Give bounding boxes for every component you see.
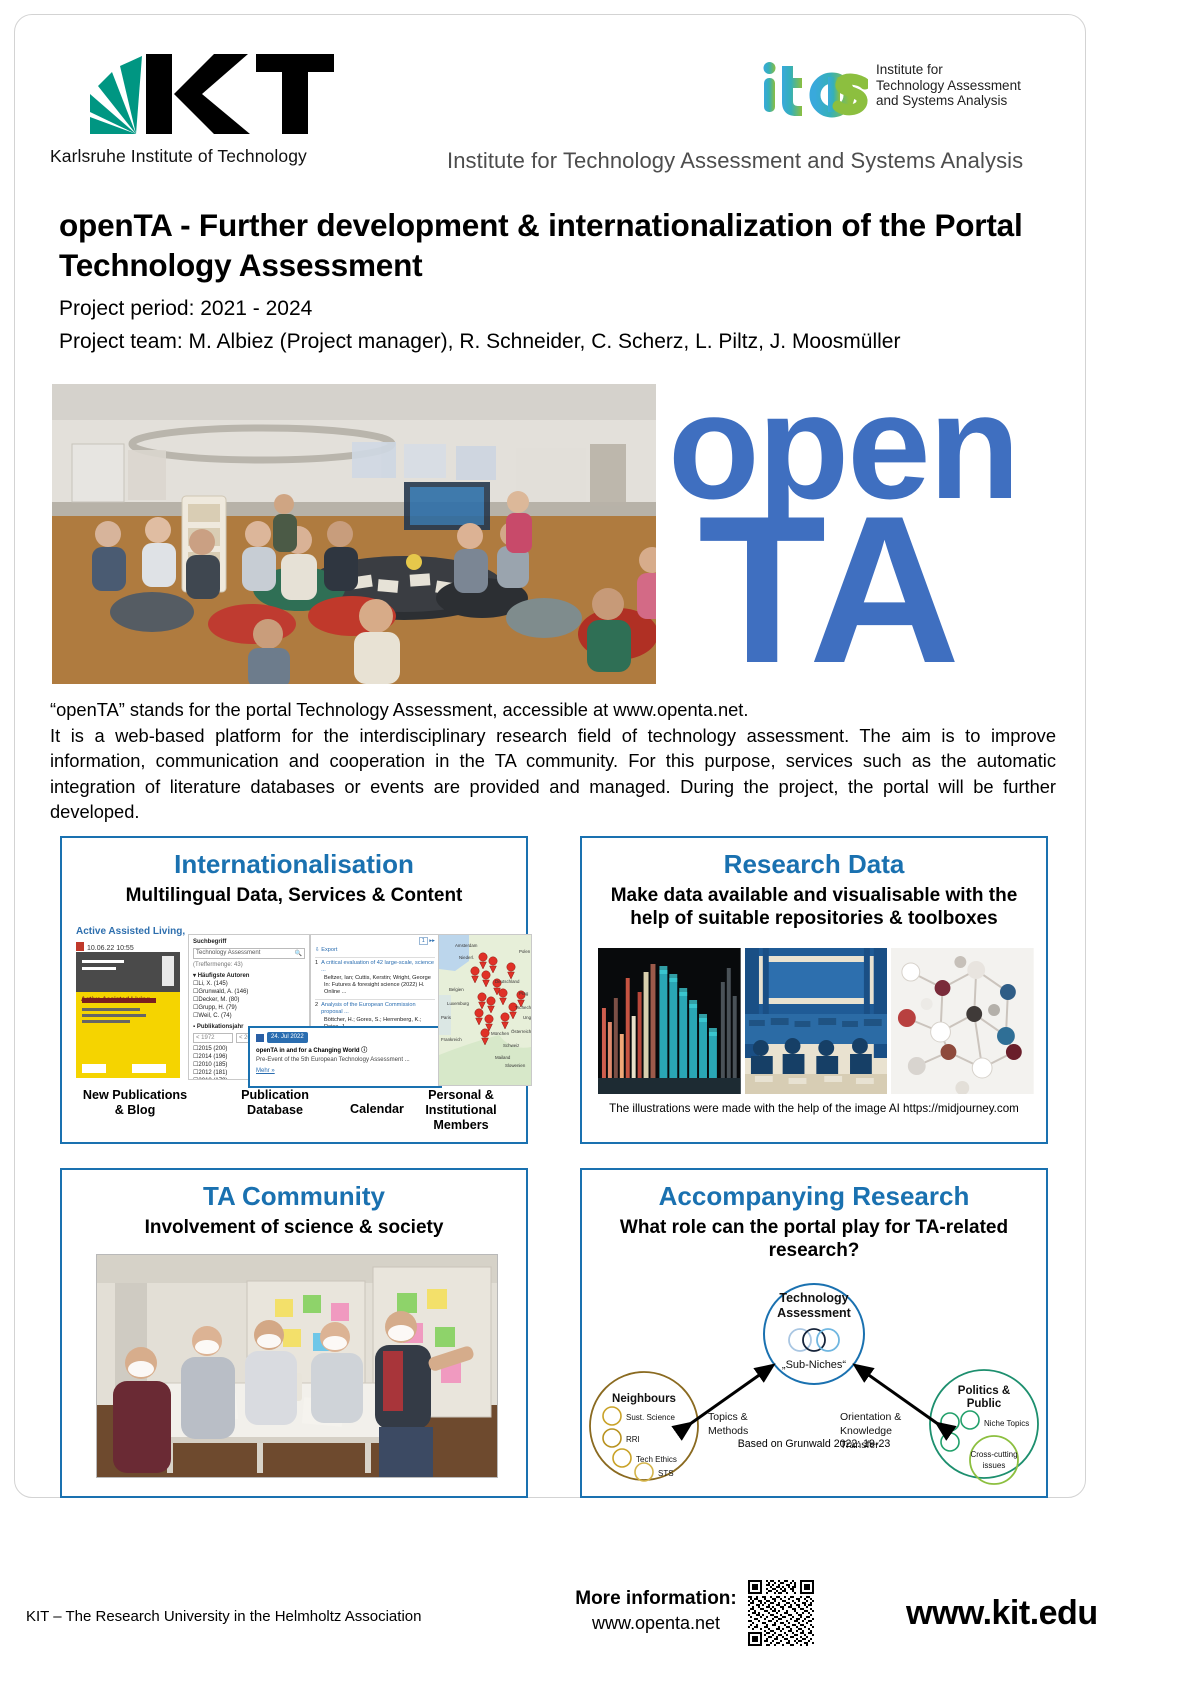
svg-text:Schweiz: Schweiz xyxy=(503,1043,519,1048)
panel-ta-community: TA Community Involvement of science & so… xyxy=(60,1168,528,1498)
workshop-photo-graphic xyxy=(52,384,656,684)
panel-research-data-title: Research Data xyxy=(582,849,1046,880)
footer-openta-url[interactable]: www.openta.net xyxy=(556,1613,756,1634)
db-author-item[interactable]: ☐Li, X. (145) xyxy=(193,980,305,988)
kit-logo: Karlsruhe Institute of Technology xyxy=(50,42,350,172)
ai-image-reading-room xyxy=(745,948,888,1094)
internationalisation-collage: Active Assisted Living, 10.06.22 10:55 xyxy=(70,926,518,1084)
book-cover-thumbnail: Active Assisted Living xyxy=(76,952,180,1078)
calendar-icon xyxy=(76,942,84,951)
caption-personal-institutional-members: Personal & Institutional Members xyxy=(396,1088,526,1133)
db-hit-count: (Treffermenge: 43) xyxy=(193,961,305,969)
result-title[interactable]: Analysis of the European Commission prop… xyxy=(321,1002,435,1017)
result-index: 1 xyxy=(315,960,318,975)
db-year-from-input[interactable]: < 1972 xyxy=(193,1033,233,1043)
diagram-neighbour-item-1: Sust. Science xyxy=(626,1413,675,1422)
footer-helmholtz-line: KIT – The Research University in the Hel… xyxy=(26,1608,421,1625)
diagram-center-line2: Assessment xyxy=(777,1306,851,1320)
db-search-label: Suchbegriff xyxy=(193,938,305,946)
calendar-date-badge: 24. Jul 2022 xyxy=(267,1032,308,1043)
panel-internationalisation-title: Internationalisation xyxy=(62,849,526,880)
diagram-niche-topics-label: Niche Topics xyxy=(984,1419,1029,1428)
calendar-event-title[interactable]: openTA in and for a Changing World ⓘ xyxy=(256,1047,434,1056)
svg-text:Prag: Prag xyxy=(519,991,529,996)
export-button[interactable]: ⇩ Export xyxy=(315,947,435,954)
result-authors: Beltzer, Ian; Cuttis, Kerstin; Wright, G… xyxy=(315,975,435,982)
diagram-edge-left-line1: Topics & xyxy=(708,1411,748,1423)
community-workshop-photo-graphic xyxy=(97,1255,497,1477)
ta-research-diagram-graphic: Technology Assessment „Sub-Niches“ Neigh… xyxy=(582,1274,1046,1494)
svg-text:Ungarn: Ungarn xyxy=(523,1015,531,1020)
search-icon[interactable]: 🔍 xyxy=(295,950,302,958)
diagram-politics-label-2: Public xyxy=(967,1398,1002,1410)
result-title[interactable]: A critical evaluation of 42 large-scale,… xyxy=(321,960,435,975)
footer-more-info-label: More information: xyxy=(556,1588,756,1610)
intro-text: “openTA” stands for the portal Technolog… xyxy=(50,697,1056,825)
qr-code[interactable] xyxy=(748,1580,814,1646)
panel-accompanying-research-title: Accompanying Research xyxy=(582,1181,1046,1212)
ai-image-data-viz xyxy=(598,948,741,1094)
blog-date: 10.06.22 10:55 xyxy=(76,942,134,952)
calendar-event-sub: Pre-Event of the 5th European Technology… xyxy=(256,1056,434,1065)
svg-text:Frankreich: Frankreich xyxy=(441,1037,462,1042)
svg-text:Luxemburg: Luxemburg xyxy=(447,1001,470,1006)
diagram-cross-cutting-line1: Cross-cutting xyxy=(970,1450,1017,1459)
diagram-edge-right-line1: Orientation & xyxy=(840,1411,901,1423)
intro-line-1: “openTA” stands for the portal Technolog… xyxy=(50,697,1056,723)
pager-next[interactable]: ▸▸ xyxy=(429,938,435,944)
diagram-credit: Based on Grunwald 2022: 19-23 xyxy=(582,1438,1046,1450)
panel-ta-community-subtitle: Involvement of science & society xyxy=(62,1216,526,1239)
project-period: Project period: 2021 - 2024 xyxy=(59,297,1039,321)
db-author-item[interactable]: ☐Decker, M. (80) xyxy=(193,996,305,1004)
diagram-politics-label-1: Politics & xyxy=(958,1385,1010,1397)
result-index: 2 xyxy=(315,1002,318,1017)
diagram-edge-right-line2: Knowledge xyxy=(840,1425,892,1437)
diagram-sub-niches-label: „Sub-Niches“ xyxy=(782,1359,847,1371)
db-author-item[interactable]: ☐Weil, C. (74) xyxy=(193,1012,305,1020)
footer-kit-edu[interactable]: www.kit.edu xyxy=(906,1594,1098,1633)
project-team: Project team: M. Albiez (Project manager… xyxy=(59,330,1039,354)
research-data-note: The illustrations were made with the hel… xyxy=(594,1102,1034,1115)
institute-subtitle: Institute for Technology Assessment and … xyxy=(447,148,1023,174)
svg-text:Tschech.: Tschech. xyxy=(515,1005,531,1010)
bullet-icon: ▪ xyxy=(193,1024,195,1030)
blog-heading: Active Assisted Living, xyxy=(76,926,185,937)
intro-body: It is a web-based platform for the inter… xyxy=(50,723,1056,825)
ai-image-data-viz-graphic xyxy=(598,948,741,1094)
svg-text:München: München xyxy=(491,1031,510,1036)
itas-text-line-3: and Systems Analysis xyxy=(876,93,1021,109)
itas-logo: Institute for Technology Assessment and … xyxy=(758,58,1058,128)
panel-ta-community-title: TA Community xyxy=(62,1181,526,1212)
svg-text:Niederl.: Niederl. xyxy=(459,955,474,960)
calendar-more-link[interactable]: Mehr » xyxy=(256,1067,434,1076)
page-title: openTA - Further development & internati… xyxy=(59,205,1029,285)
openta-logo: open TA xyxy=(672,380,1060,688)
ai-image-reading-room-graphic xyxy=(745,948,888,1094)
db-author-list: ☐Li, X. (145) ☐Grunwald, A. (146) ☐Decke… xyxy=(193,980,305,1020)
diagram-edge-left-line2: Methods xyxy=(708,1425,748,1437)
members-map-screenshot: Amsterdam Niederl. Deutschland Belgien L… xyxy=(438,934,532,1086)
caption-publication-database: Publication Database xyxy=(220,1088,330,1118)
calendar-screenshot: 24. Jul 2022 openTA in and for a Changin… xyxy=(248,1026,442,1088)
footer-more-information: More information: www.openta.net xyxy=(556,1588,756,1634)
kit-logo-graphic xyxy=(50,42,350,142)
svg-text:Deutschland: Deutschland xyxy=(495,979,520,984)
itas-logo-graphic xyxy=(758,58,868,120)
svg-text:Slowenien: Slowenien xyxy=(505,1063,526,1068)
poster-canvas: Karlsruhe Institute of Technology Insti xyxy=(0,0,1200,1696)
research-data-images xyxy=(598,948,1034,1094)
diagram-neighbour-item-4: STS xyxy=(658,1469,674,1478)
ai-image-molecule-network xyxy=(891,948,1034,1094)
internationalisation-captions: New Publications & Blog Publication Data… xyxy=(62,1088,526,1136)
itas-text-line-2: Technology Assessment xyxy=(876,78,1021,94)
itas-text-line-1: Institute for xyxy=(876,62,1021,78)
svg-text:Polen: Polen xyxy=(519,949,531,954)
panel-research-data-subtitle: Make data available and visualisable wit… xyxy=(582,884,1046,930)
panel-research-data: Research Data Make data available and vi… xyxy=(580,836,1048,1144)
panel-internationalisation-subtitle: Multilingual Data, Services & Content xyxy=(62,884,526,907)
diagram-center-line1: Technology xyxy=(779,1291,848,1305)
db-search-input[interactable]: Technology Assessment 🔍 xyxy=(193,948,305,959)
db-author-item[interactable]: ☐Grupp, H. (79) xyxy=(193,1004,305,1012)
caption-new-publications-blog: New Publications & Blog xyxy=(70,1088,200,1118)
itas-logo-text: Institute for Technology Assessment and … xyxy=(876,62,1021,109)
info-icon: ⓘ xyxy=(361,1048,367,1054)
result-source: In: Futures & foresight science (2022) H… xyxy=(315,982,435,997)
book-title: Active Assisted Living xyxy=(81,996,150,1003)
panel-accompanying-research: Accompanying Research What role can the … xyxy=(580,1168,1048,1498)
book-cover-graphic xyxy=(76,952,180,1078)
calendar-badge-icon xyxy=(256,1034,264,1042)
db-facet-authors-label[interactable]: ▾ Häufigste Autoren xyxy=(193,972,305,980)
svg-text:Paris: Paris xyxy=(441,1015,452,1020)
svg-text:Belgien: Belgien xyxy=(449,987,464,992)
openta-logo-graphic: open TA xyxy=(672,380,1060,688)
svg-text:Österreich: Österreich xyxy=(511,1029,531,1034)
db-author-item[interactable]: ☐Grunwald, A. (146) xyxy=(193,988,305,996)
diagram-neighbours-label: Neighbours xyxy=(612,1393,676,1405)
diagram-cross-cutting-line2: issues xyxy=(983,1461,1006,1470)
openta-logo-ta: TA xyxy=(698,472,958,688)
community-workshop-photo xyxy=(96,1254,498,1478)
svg-text:Mailand: Mailand xyxy=(495,1055,511,1060)
export-icon: ⇩ xyxy=(315,947,320,953)
panel-internationalisation: Internationalisation Multilingual Data, … xyxy=(60,836,528,1144)
kit-logo-caption: Karlsruhe Institute of Technology xyxy=(50,146,350,167)
ai-image-molecule-network-graphic xyxy=(891,948,1034,1094)
panel-accompanying-research-subtitle: What role can the portal play for TA-rel… xyxy=(582,1216,1046,1262)
pager-page-1[interactable]: 1 xyxy=(419,937,428,945)
svg-text:Amsterdam: Amsterdam xyxy=(455,943,478,948)
members-map-graphic: Amsterdam Niederl. Deutschland Belgien L… xyxy=(439,935,531,1085)
chevron-down-icon: ▾ xyxy=(193,973,196,979)
workshop-photo xyxy=(52,384,656,684)
qr-code-graphic xyxy=(748,1580,814,1646)
ta-research-diagram: Technology Assessment „Sub-Niches“ Neigh… xyxy=(582,1274,1046,1494)
